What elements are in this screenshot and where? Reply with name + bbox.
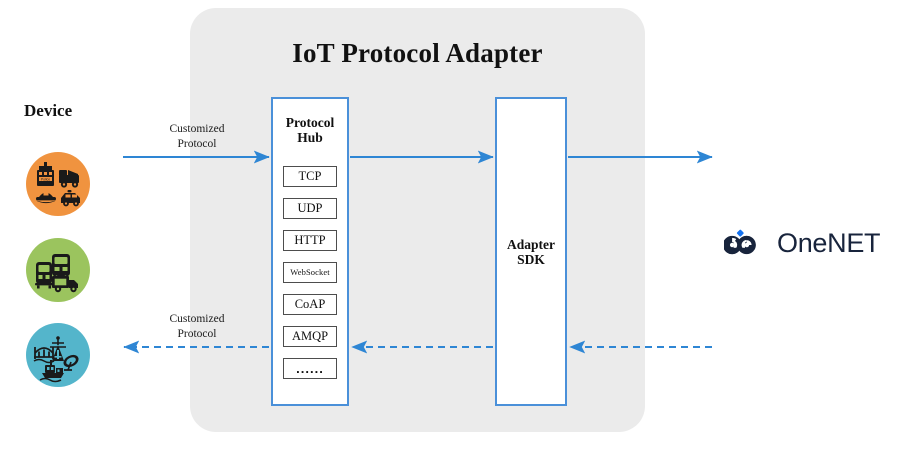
protocol-hub-title-line1: Protocol (273, 115, 347, 130)
protocol-hub-title-line2: Hub (273, 130, 347, 145)
protocol-chip-tcp[interactable]: TCP (283, 166, 337, 187)
device-icon-infrastructure (26, 323, 90, 387)
protocol-chip-websocket[interactable]: WebSocket (283, 262, 337, 283)
adapter-sdk-title-line2: SDK (497, 252, 565, 267)
onenet-mark-icon (724, 228, 770, 258)
iot-protocol-adapter-panel (190, 8, 645, 432)
uplink-label-line1: Customized (132, 122, 262, 137)
public-safety-icon: Police (26, 152, 90, 216)
device-group-label: Device (24, 101, 72, 121)
transport-icon (26, 238, 90, 302)
downlink-label-line2: Protocol (132, 327, 262, 342)
downlink-protocol-label: Customized Protocol (132, 312, 262, 341)
adapter-sdk-box: Adapter SDK (495, 97, 567, 406)
page-title: IoT Protocol Adapter (190, 38, 645, 69)
protocol-hub-box: Protocol Hub TCP UDP HTTP WebSocket CoAP… (271, 97, 349, 406)
diagram-canvas: IoT Protocol Adapter Device Police (0, 0, 897, 449)
device-icon-public-safety: Police (26, 152, 90, 216)
protocol-chip-http[interactable]: HTTP (283, 230, 337, 251)
uplink-protocol-label: Customized Protocol (132, 122, 262, 151)
protocol-chip-coap[interactable]: CoAP (283, 294, 337, 315)
device-icon-transport (26, 238, 90, 302)
protocol-hub-title: Protocol Hub (273, 115, 347, 145)
downlink-label-line1: Customized (132, 312, 262, 327)
adapter-sdk-title-line1: Adapter (497, 237, 565, 252)
adapter-sdk-title: Adapter SDK (497, 237, 565, 267)
onenet-logo: OneNET (724, 228, 880, 258)
protocol-chip-more[interactable]: ...... (283, 358, 337, 379)
infrastructure-icon (26, 323, 90, 387)
protocol-chip-udp[interactable]: UDP (283, 198, 337, 219)
protocol-chip-amqp[interactable]: AMQP (283, 326, 337, 347)
svg-text:Police: Police (41, 177, 50, 181)
onenet-wordmark: OneNET (777, 230, 880, 257)
uplink-label-line2: Protocol (132, 137, 262, 152)
protocol-list: TCP UDP HTTP WebSocket CoAP AMQP ...... (273, 166, 347, 390)
